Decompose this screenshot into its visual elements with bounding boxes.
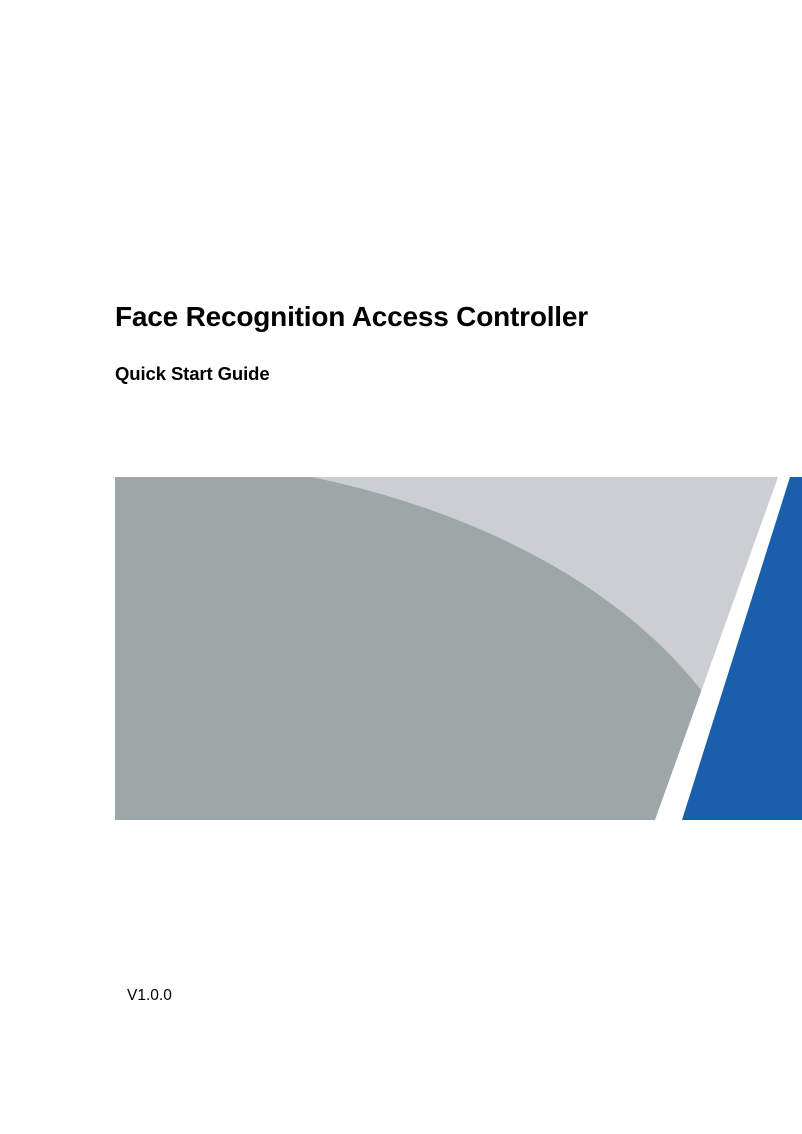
document-version: V1.0.0 [127, 986, 172, 1006]
page-subtitle: Quick Start Guide [115, 334, 755, 386]
document-page: Face Recognition Access Controller Quick… [0, 0, 802, 1134]
page-title: Face Recognition Access Controller [115, 300, 755, 334]
title-block: Face Recognition Access Controller Quick… [115, 300, 755, 386]
cover-banner-graphic [115, 477, 802, 820]
cover-banner-svg [115, 477, 802, 820]
version-block: V1.0.0 [127, 986, 172, 1006]
